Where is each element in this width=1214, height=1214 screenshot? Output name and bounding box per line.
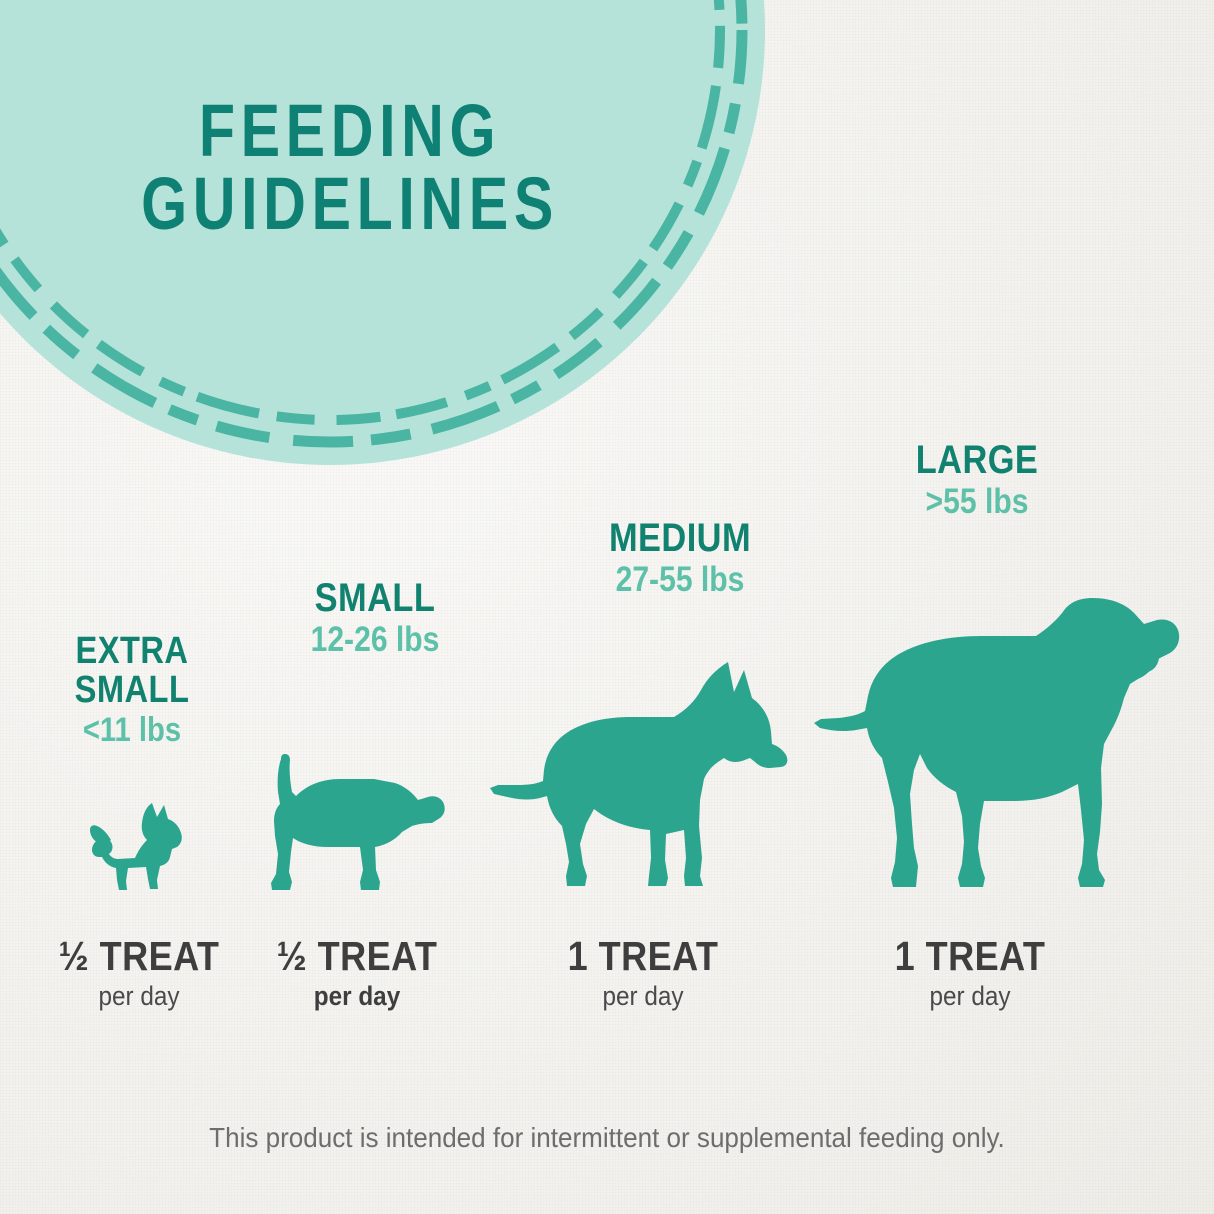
beagle-silhouette-icon — [262, 752, 450, 894]
treat-period-medium: per day — [531, 982, 756, 1012]
treat-amount-medium: 1 TREAT — [533, 936, 753, 977]
treat-caption-medium: 1 TREAT per day — [518, 936, 768, 1012]
size-label-extra-small: EXTRA SMALL <11 lbs — [42, 632, 222, 750]
size-weight-extra-small: <11 lbs — [55, 712, 210, 749]
size-name-small: SMALL — [280, 578, 469, 619]
size-label-large: LARGE >55 lbs — [862, 440, 1092, 522]
treat-caption-small: ½ TREAT per day — [232, 936, 482, 1012]
treat-period-small: per day — [245, 982, 470, 1012]
feeding-guidelines-infographic: FEEDING GUIDELINES EXTRA SMALL <11 lbs S… — [0, 0, 1214, 1214]
disclaimer-text: This product is intended for intermitten… — [42, 1122, 1171, 1154]
size-name-medium: MEDIUM — [581, 518, 779, 559]
treat-period-extra-small: per day — [27, 982, 252, 1012]
badge-fill-circle — [0, 0, 765, 465]
shepherd-silhouette-icon — [488, 658, 792, 895]
size-label-medium: MEDIUM 27-55 lbs — [565, 518, 795, 600]
size-weight-medium: 27-55 lbs — [581, 561, 779, 600]
pointer-silhouette-icon — [812, 592, 1188, 895]
treat-amount-extra-small: ½ TREAT — [29, 936, 249, 977]
treat-period-large: per day — [858, 982, 1083, 1012]
treat-amount-small: ½ TREAT — [247, 936, 467, 977]
header-badge-circle — [0, 0, 770, 470]
treat-caption-large: 1 TREAT per day — [845, 936, 1095, 1012]
size-weight-large: >55 lbs — [878, 483, 1076, 522]
treat-caption-extra-small: ½ TREAT per day — [14, 936, 264, 1012]
chihuahua-silhouette-icon — [80, 795, 188, 895]
size-name-extra-small: EXTRA SMALL — [55, 632, 210, 710]
size-weight-small: 12-26 lbs — [280, 621, 469, 660]
treat-amount-large: 1 TREAT — [860, 936, 1080, 977]
size-name-large: LARGE — [878, 440, 1076, 481]
size-label-small: SMALL 12-26 lbs — [265, 578, 485, 660]
